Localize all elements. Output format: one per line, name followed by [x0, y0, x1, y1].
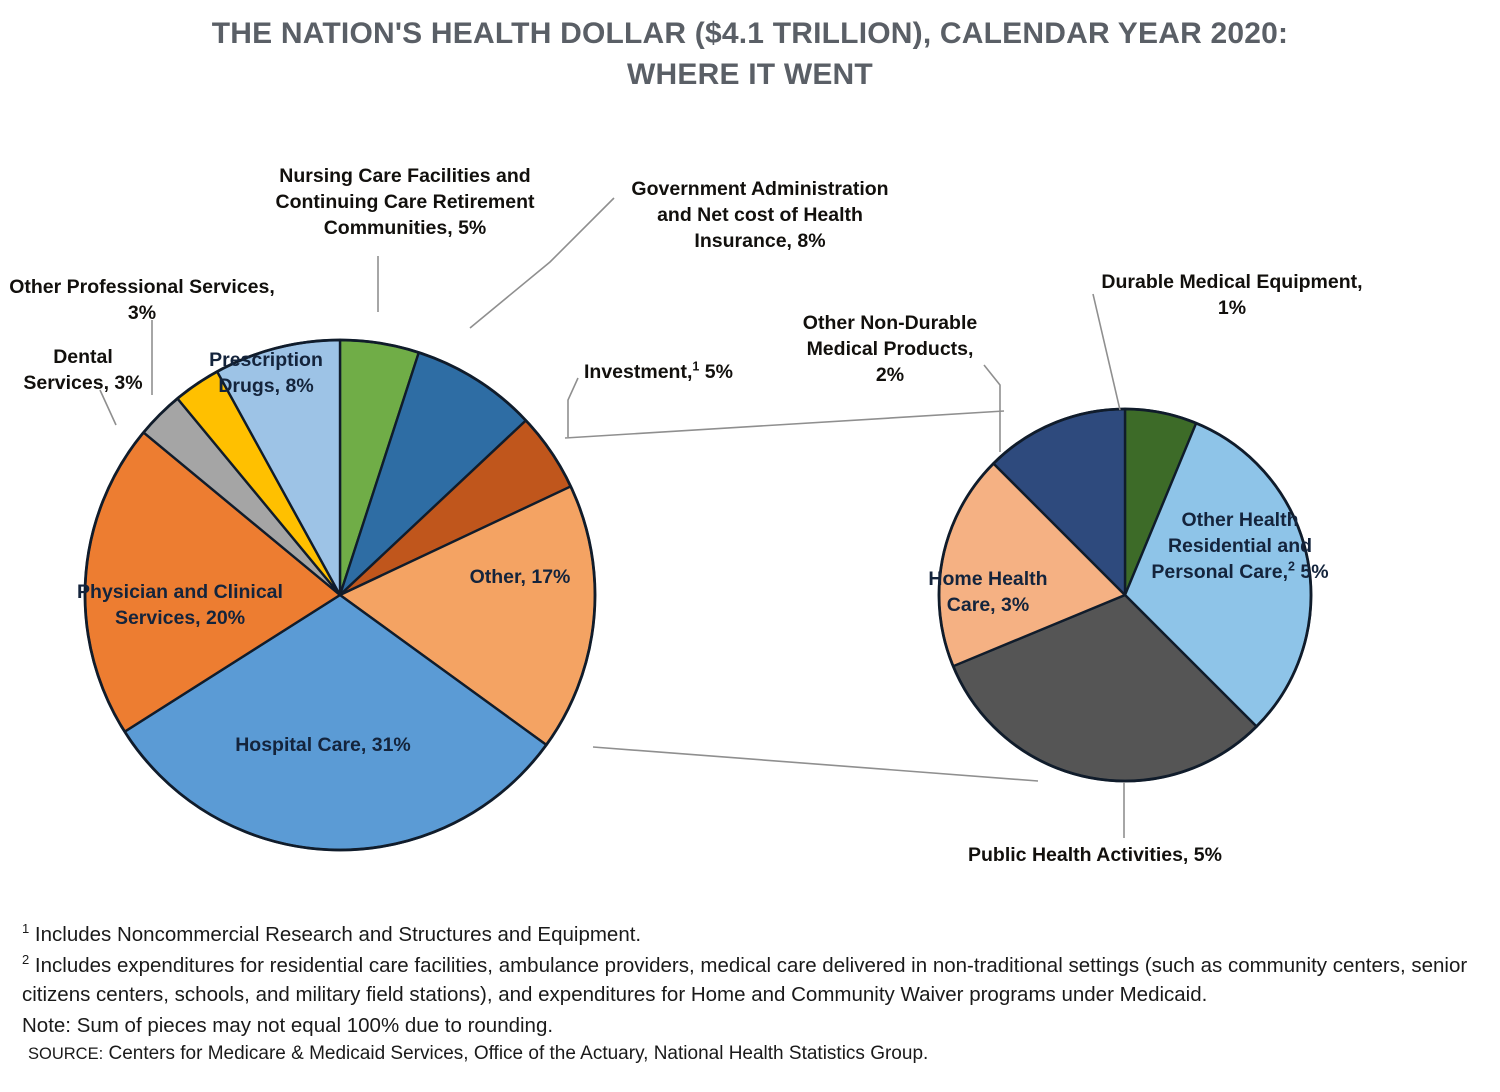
footnote-1: 1 Includes Noncommercial Research and St… [22, 920, 1484, 950]
footnote-marker-2: 2 [1288, 559, 1295, 573]
label-other-health-residential-personal-care: Other Health Residential and Personal Ca… [1140, 508, 1340, 586]
connector-line-top [565, 411, 1004, 438]
label-nursing-care: Nursing Care Facilities and Continuing C… [260, 164, 550, 242]
label-other-non-durable-medical-products: Other Non-Durable Medical Products, 2% [790, 311, 990, 389]
label-durable-medical-equipment: Durable Medical Equipment, 1% [1082, 270, 1382, 322]
label-hospital-care: Hospital Care, 31% [228, 733, 418, 759]
rounding-note: Note: Sum of pieces may not equal 100% d… [22, 1011, 1484, 1041]
label-dental-services: Dental Services, 3% [8, 345, 158, 397]
source-line: SOURCE: Centers for Medicare & Medicaid … [28, 1043, 928, 1065]
source-label: SOURCE: [28, 1045, 103, 1063]
chart-page: THE NATION'S HEALTH DOLLAR ($4.1 TRILLIO… [0, 0, 1500, 1092]
label-public-health-activities: Public Health Activities, 5% [950, 843, 1240, 869]
label-physician-clinical-services: Physician and Clinical Services, 20% [60, 580, 300, 632]
label-prescription-drugs: Prescription Drugs, 8% [196, 348, 336, 400]
footnotes-block: 1 Includes Noncommercial Research and St… [22, 920, 1484, 1041]
label-home-health-care: Home Health Care, 3% [918, 567, 1058, 619]
source-text: Centers for Medicare & Medicaid Services… [103, 1043, 928, 1064]
leader-line-investment [568, 378, 578, 437]
label-investment: Investment,1 5% [584, 360, 814, 386]
connector-line-bottom [593, 747, 1038, 781]
footnote-2: 2 Includes expenditures for residential … [22, 951, 1484, 1010]
label-other: Other, 17% [455, 565, 585, 591]
label-other-professional-services: Other Professional Services, 3% [2, 275, 282, 327]
label-government-administration: Government Administration and Net cost o… [600, 177, 920, 255]
